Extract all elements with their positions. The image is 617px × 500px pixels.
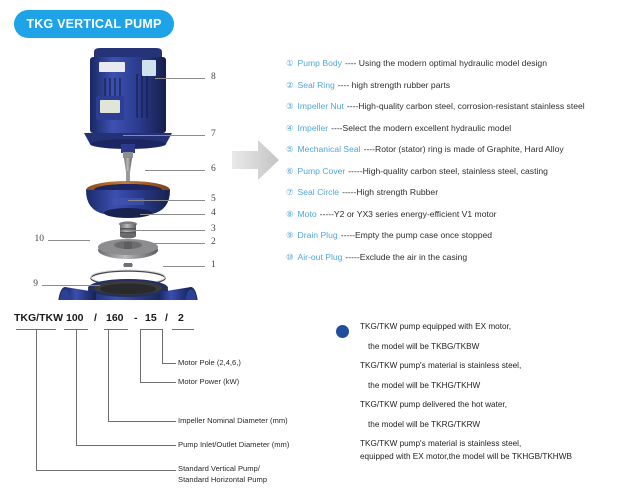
- legend-item: ⑩ Air-out Plug -----Exclude the air in t…: [286, 252, 612, 263]
- model-segment-pole: 2: [178, 312, 184, 324]
- pump-body-casing: [58, 279, 198, 300]
- legend-item: ④ Impeller ----Select the modern excelle…: [286, 123, 612, 134]
- right-arrow-icon: [232, 138, 280, 182]
- legend-number: ⑨: [286, 230, 294, 241]
- impeller-nut: [123, 263, 133, 267]
- legend-part-name: Air-out Plug: [298, 252, 343, 263]
- model-separator-slash1: /: [94, 312, 97, 324]
- legend-description: ----High-quality carbon steel, corrosion…: [347, 101, 585, 112]
- note-line: the model will be TKRG/TKRW: [336, 420, 616, 430]
- model-label-impeller-dia: Impeller Nominal Diameter (mm): [178, 416, 288, 426]
- callout-number-7: 7: [211, 129, 216, 139]
- note-line: TKG/TKW pump equipped with EX motor,: [336, 322, 616, 332]
- model-segment-inlet: 100: [66, 312, 84, 324]
- note-line: TKG/TKW pump's material is stainless ste…: [336, 439, 616, 449]
- legend-number: ④: [286, 123, 294, 134]
- legend-item: ⑦ Seal Circle -----High strength Rubber: [286, 187, 612, 198]
- note-line: TKG/TKW pump delivered the hot water,: [336, 400, 616, 410]
- note-line: TKG/TKW pump's material is stainless ste…: [336, 361, 616, 371]
- legend-number: ①: [286, 58, 294, 69]
- model-separator-slash2: /: [165, 312, 168, 324]
- legend-item: ② Seal Ring ---- high strength rubber pa…: [286, 80, 612, 91]
- callout-number-3: 3: [211, 224, 216, 234]
- legend-part-name: Seal Ring: [298, 80, 335, 91]
- legend-description: -----Y2 or YX3 series energy-efficient V…: [320, 209, 497, 220]
- callout-number-2: 2: [211, 237, 216, 247]
- legend-description: ----Select the modern excellent hydrauli…: [331, 123, 511, 134]
- model-separator-dash: -: [134, 312, 138, 324]
- legend-number: ⑦: [286, 187, 294, 198]
- legend-part-name: Seal Circle: [298, 187, 340, 198]
- legend-description: ---- Using the modern optimal hydraulic …: [345, 58, 547, 69]
- model-label-motor-pole: Motor Pole (2,4,6,): [178, 358, 241, 368]
- legend-description: -----Exclude the air in the casing: [345, 252, 467, 263]
- legend-part-name: Mechanical Seal: [298, 144, 361, 155]
- callout-number-10: 10: [28, 234, 44, 244]
- legend-part-name: Moto: [298, 209, 317, 220]
- model-label-standard-vert: Standard Vertical Pump/: [178, 464, 260, 474]
- callout-number-4: 4: [211, 208, 216, 218]
- motor-assembly: [84, 48, 172, 149]
- model-code-breakdown: TKG/TKW 100 / 160 - 15 / 2 Motor Pole (2…: [0, 312, 330, 500]
- callout-number-1: 1: [211, 260, 216, 270]
- legend-number: ③: [286, 101, 294, 112]
- legend-part-name: Impeller Nut: [298, 101, 344, 112]
- legend-number: ⑩: [286, 252, 294, 263]
- callout-number-5: 5: [211, 194, 216, 204]
- model-variant-notes: TKG/TKW pump equipped with EX motor, the…: [336, 322, 616, 471]
- legend-item: ⑥ Pump Cover -----High-quality carbon st…: [286, 166, 612, 177]
- model-segment-power: 15: [145, 312, 157, 324]
- note-line: the model will be TKHG/TKHW: [336, 381, 616, 391]
- pump-exploded-diagram: [18, 38, 238, 298]
- legend-part-name: Pump Cover: [298, 166, 346, 177]
- legend-description: ---- high strength rubber parts: [338, 80, 450, 91]
- callout-number-6: 6: [211, 164, 216, 174]
- legend-item: ① Pump Body ---- Using the modern optima…: [286, 58, 612, 69]
- model-label-motor-power: Motor Power (kW): [178, 377, 239, 387]
- legend-item: ③ Impeller Nut ----High-quality carbon s…: [286, 101, 612, 112]
- model-label-standard-horiz: Standard Horizontal Pump: [178, 475, 267, 485]
- legend-number: ②: [286, 80, 294, 91]
- legend-description: ----Rotor (stator) ring is made of Graph…: [364, 144, 564, 155]
- shaft-coupling: [121, 144, 135, 185]
- bullet-point-icon: [336, 325, 349, 338]
- legend-description: -----High strength Rubber: [342, 187, 438, 198]
- legend-number: ⑧: [286, 209, 294, 220]
- legend-part-name: Drain Plug: [298, 230, 338, 241]
- callout-number-8: 8: [211, 72, 216, 82]
- impeller: [98, 239, 158, 259]
- model-label-inlet-dia: Pump Inlet/Outlet Diameter (mm): [178, 440, 289, 450]
- model-segment-series: TKG/TKW: [14, 312, 63, 324]
- page-title: TKG VERTICAL PUMP: [14, 10, 174, 38]
- legend-number: ⑥: [286, 166, 294, 177]
- callout-number-9: 9: [26, 279, 38, 289]
- legend-item: ⑧ Moto -----Y2 or YX3 series energy-effi…: [286, 209, 612, 220]
- note-line: equipped with EX motor,the model will be…: [336, 452, 616, 462]
- legend-description: -----High-quality carbon steel, stainles…: [348, 166, 548, 177]
- note-line: the model will be TKBG/TKBW: [336, 342, 616, 352]
- model-segment-impeller: 160: [106, 312, 124, 324]
- legend-description: -----Empty the pump case once stopped: [341, 230, 492, 241]
- parts-legend: ① Pump Body ---- Using the modern optima…: [286, 58, 612, 273]
- legend-item: ⑤ Mechanical Seal ----Rotor (stator) rin…: [286, 144, 612, 155]
- legend-part-name: Impeller: [298, 123, 329, 134]
- legend-item: ⑨ Drain Plug -----Empty the pump case on…: [286, 230, 612, 241]
- product-spec-sheet: TKG VERTICAL PUMP: [0, 0, 617, 500]
- legend-number: ⑤: [286, 144, 294, 155]
- legend-part-name: Pump Body: [298, 58, 342, 69]
